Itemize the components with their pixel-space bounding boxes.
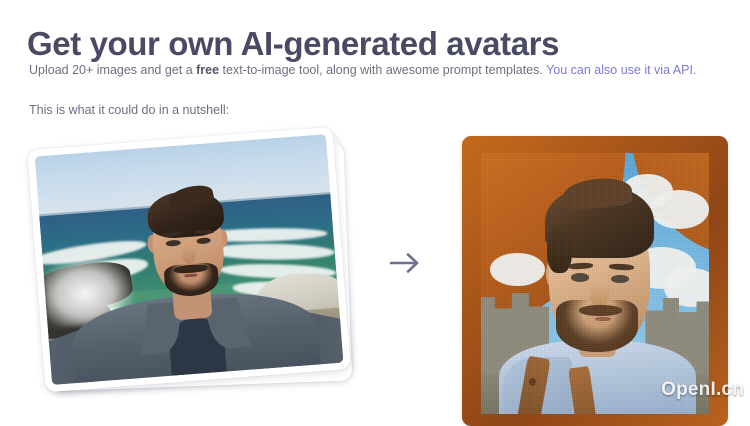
result-portrait-image [481,153,710,414]
arrow-right-icon [388,250,422,276]
nutshell-caption: This is what it could do in a nutshell: [29,101,229,119]
source-photo-stack [36,138,336,383]
painted-lip [595,317,611,322]
result-portrait-card[interactable] [462,136,728,426]
painted-figure [481,153,710,414]
api-link[interactable]: You can also use it via API. [546,63,696,77]
subtitle-free-emphasis: free [196,63,219,77]
subtitle-part-1: Upload 20+ images and get a [29,63,196,77]
source-photo-card[interactable] [27,127,351,393]
subtitle-part-2: text-to-image tool, along with awesome p… [219,63,546,77]
source-photo-image [35,134,344,385]
painted-mustache [579,305,622,316]
subtitle-line: Upload 20+ images and get a free text-to… [29,61,696,79]
page-title: Get your own AI-generated avatars [27,24,559,64]
painted-eye-left [571,273,589,281]
person-figure [35,134,344,385]
